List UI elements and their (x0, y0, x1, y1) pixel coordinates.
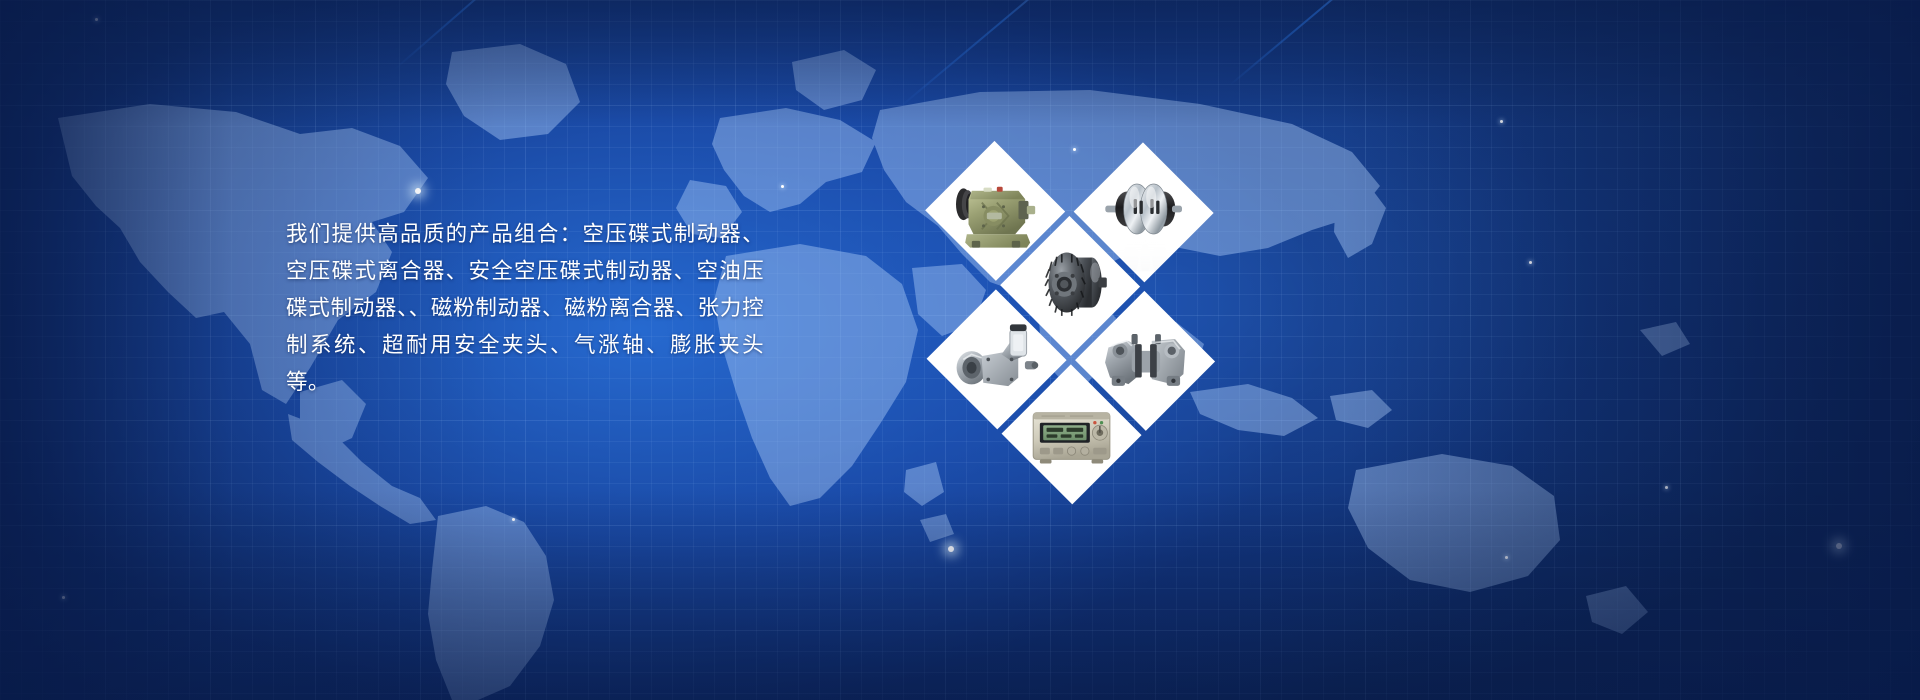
sparkle-dot-8 (1505, 556, 1508, 559)
sparkle-dot-1 (95, 18, 98, 21)
sparkle-dot-2 (415, 188, 421, 194)
pneumatic-disc-brake-icon (1094, 163, 1194, 261)
light-streak-3 (1229, 0, 1395, 86)
sparkle-dot-12 (62, 596, 65, 599)
worm-gear-reducer-icon (945, 162, 1045, 260)
hero-banner: 我们提供高品质的产品组合：空压碟式制动器、空压碟式离合器、安全空压碟式制动器、空… (0, 0, 1920, 700)
safety-chuck-assembly-icon (947, 310, 1047, 408)
sparkle-dot-7 (1836, 543, 1842, 549)
product-diamond-cluster (884, 140, 1252, 436)
hero-headline: 我们提供高品质的产品组合：空压碟式制动器、空压碟式离合器、安全空压碟式制动器、空… (286, 216, 764, 401)
sparkle-dot-9 (948, 546, 954, 552)
hydraulic-caliper-brake-icon (1095, 312, 1195, 410)
tension-controller-icon (1022, 385, 1122, 483)
sparkle-dot-3 (781, 185, 784, 188)
magnetic-powder-brake-icon (1020, 237, 1120, 335)
light-streak-1 (394, 0, 522, 70)
sparkle-dot-10 (512, 518, 515, 521)
sparkle-dot-6 (1665, 486, 1668, 489)
sparkle-dot-4 (1500, 120, 1503, 123)
sparkle-dot-5 (1529, 261, 1532, 264)
